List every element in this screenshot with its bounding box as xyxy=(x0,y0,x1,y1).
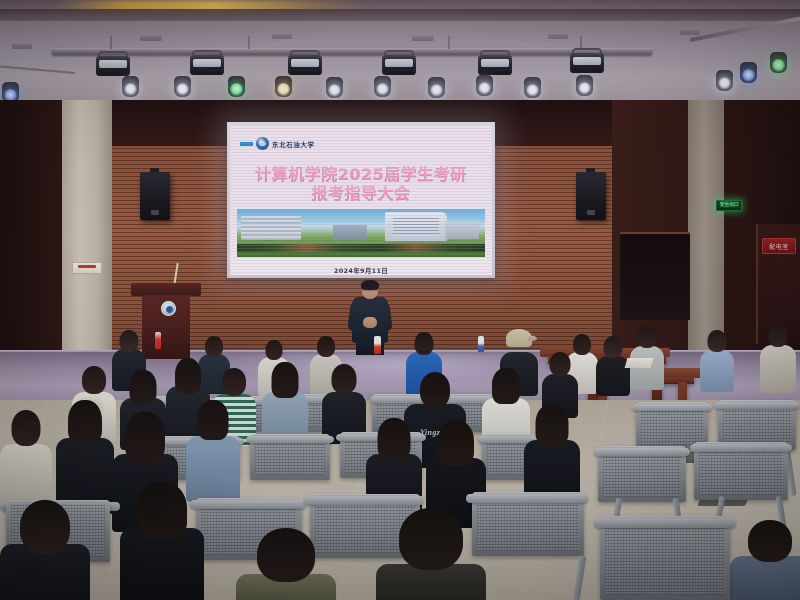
fixture-lens xyxy=(385,59,413,67)
person-head xyxy=(399,508,463,570)
audience-member-foreground xyxy=(376,508,486,600)
seat-armrest xyxy=(690,444,792,452)
exit-sign-label: 安全出口 xyxy=(720,203,739,208)
ceiling-shadow-strip xyxy=(0,9,800,21)
audience-member xyxy=(760,324,796,390)
seat-armrest xyxy=(246,436,334,443)
person-head xyxy=(708,330,727,352)
person-head xyxy=(257,528,315,582)
truss-drop-rod xyxy=(448,36,450,49)
audience-member-foreground xyxy=(236,528,336,600)
fixture-body xyxy=(288,55,322,75)
auditorium-scene: 安全出口 配电室 东北石油大学 计算机学院2025届学生考研 报考指导大会 xyxy=(0,0,800,600)
seat-mesh xyxy=(605,520,725,595)
person-head xyxy=(82,366,106,394)
stage-lamp xyxy=(576,75,593,96)
fixture-body xyxy=(478,55,512,75)
stage-light-fixture xyxy=(288,55,322,81)
slide-title: 计算机学院2025届学生考研 报考指导大会 xyxy=(230,165,492,203)
ceiling-vent xyxy=(272,34,292,39)
exit-sign: 安全出口 xyxy=(716,200,742,211)
water-bottle xyxy=(374,336,381,354)
person-hair xyxy=(68,400,102,444)
seat-armrest xyxy=(632,404,712,411)
stage-light-fixture xyxy=(190,55,224,81)
person-head xyxy=(332,364,357,394)
electrical-room-sign: 配电室 xyxy=(762,238,796,254)
wall-speaker-left xyxy=(140,172,170,220)
fixture-body xyxy=(570,53,604,73)
presenter-hair xyxy=(361,280,379,290)
person-head xyxy=(266,340,283,360)
led-screen: 东北石油大学 计算机学院2025届学生考研 报考指导大会 2024年9月11日 xyxy=(230,125,492,275)
seat-mesh xyxy=(699,446,783,495)
person-hair xyxy=(492,368,520,404)
slide-title-line-1: 计算机学院2025届学生考研 xyxy=(230,165,492,184)
person-head xyxy=(12,410,41,446)
stage-lamp xyxy=(326,77,343,98)
person-hair xyxy=(272,362,299,398)
pillar-notice-sign xyxy=(72,262,102,274)
slide-campus-photo xyxy=(237,209,485,257)
stage-lamp-side xyxy=(716,70,733,91)
audience-member-foreground xyxy=(0,500,90,600)
truss-drop-rod xyxy=(110,36,112,49)
lighting-truss xyxy=(52,48,652,55)
seat-armrest xyxy=(714,402,800,409)
person-hair xyxy=(536,404,569,446)
person-hair xyxy=(378,418,411,460)
seat-armrest xyxy=(594,448,690,456)
stage-lamp xyxy=(428,77,445,98)
person-cap xyxy=(506,329,532,347)
person-head xyxy=(415,332,434,355)
person-head xyxy=(420,372,450,408)
fixture-body xyxy=(190,55,224,75)
notebook-paper xyxy=(625,358,654,368)
person-head xyxy=(317,336,335,357)
side-doorway xyxy=(620,232,690,320)
person-head xyxy=(604,336,623,358)
ceiling-vent xyxy=(680,30,700,35)
audience-member xyxy=(322,364,366,440)
person-hair xyxy=(198,400,229,440)
stage-lamp xyxy=(122,76,139,97)
audience-member-foreground xyxy=(120,482,204,600)
person-body xyxy=(730,556,800,600)
stage-lamp-blue xyxy=(740,62,757,83)
seat-mesh xyxy=(477,496,579,551)
wall-pillar-left xyxy=(62,100,112,382)
person-hair xyxy=(175,358,201,394)
stage-lamp xyxy=(524,77,541,98)
audience-member xyxy=(0,410,52,506)
fixture-lens xyxy=(99,60,127,68)
cap-brim xyxy=(528,336,537,341)
seat-mesh xyxy=(641,406,703,445)
water-bottle xyxy=(478,336,484,352)
fixture-lens xyxy=(481,59,509,67)
presenter-hands xyxy=(363,317,377,328)
person-hair xyxy=(130,370,157,404)
wall-left-dark xyxy=(0,100,62,382)
seat-armrest xyxy=(466,494,588,503)
lectern-body xyxy=(142,295,190,359)
seat-armrest xyxy=(594,518,736,528)
fixture-body xyxy=(96,56,130,76)
seat-armrest xyxy=(304,496,424,505)
person-head xyxy=(769,324,788,347)
wall-speaker-right xyxy=(576,172,606,220)
person-head xyxy=(222,368,246,396)
wall-pillar-right xyxy=(688,100,724,352)
person-hair xyxy=(125,412,165,462)
fixture-lens xyxy=(573,57,601,65)
audience-member xyxy=(524,404,580,502)
stage-lamp xyxy=(374,76,391,97)
audience-member xyxy=(630,326,664,388)
led-screen-frame: 东北石油大学 计算机学院2025届学生考研 报考指导大会 2024年9月11日 xyxy=(227,122,495,278)
person-head xyxy=(20,500,70,554)
person-hair xyxy=(137,482,187,540)
auditorium-seat-empty xyxy=(600,516,730,600)
audience-member xyxy=(56,400,114,510)
person-body xyxy=(700,350,734,392)
water-bottle xyxy=(155,332,161,349)
fixture-body xyxy=(382,55,416,75)
truss-drop-rod xyxy=(248,36,250,49)
audience-member-foreground xyxy=(730,520,800,600)
ceiling-vent xyxy=(548,34,568,39)
stage-lamp-green xyxy=(228,76,245,97)
stage-lamp-green xyxy=(770,52,787,73)
audience-member xyxy=(700,330,734,390)
person-head xyxy=(120,330,139,352)
seat-mesh xyxy=(723,404,791,445)
person-body xyxy=(630,346,664,390)
stage-lamp xyxy=(174,76,191,97)
university-emblem-icon xyxy=(161,301,176,316)
university-name: 东北石油大学 xyxy=(272,139,315,149)
seat-mesh xyxy=(603,450,681,497)
presenter xyxy=(348,281,392,355)
fixture-lens xyxy=(291,59,319,67)
campus-hedge xyxy=(237,244,485,252)
person-head xyxy=(550,352,571,376)
person-head xyxy=(748,520,792,562)
ceiling-vent xyxy=(12,44,32,49)
person-head xyxy=(638,326,657,348)
stage-lamp xyxy=(476,75,493,96)
stage-lamp-warm xyxy=(275,76,292,97)
ceiling-vent xyxy=(412,36,434,41)
audience-member xyxy=(262,362,308,442)
room-sign-label: 配电室 xyxy=(769,242,789,251)
person-head xyxy=(205,336,223,357)
university-logo-icon xyxy=(256,137,269,150)
slide-date: 2024年9月11日 xyxy=(230,265,492,275)
seat-mesh xyxy=(255,438,325,475)
person-body xyxy=(760,345,796,393)
seat-armrest xyxy=(190,500,306,509)
slide-logo-row: 东北石油大学 xyxy=(240,137,315,150)
person-body xyxy=(596,356,630,396)
logo-accent-bar xyxy=(240,142,253,146)
fixture-lens xyxy=(193,59,221,67)
ceiling-vent xyxy=(140,36,162,41)
slide-title-line-2: 报考指导大会 xyxy=(230,184,492,203)
person-hair xyxy=(438,420,474,466)
